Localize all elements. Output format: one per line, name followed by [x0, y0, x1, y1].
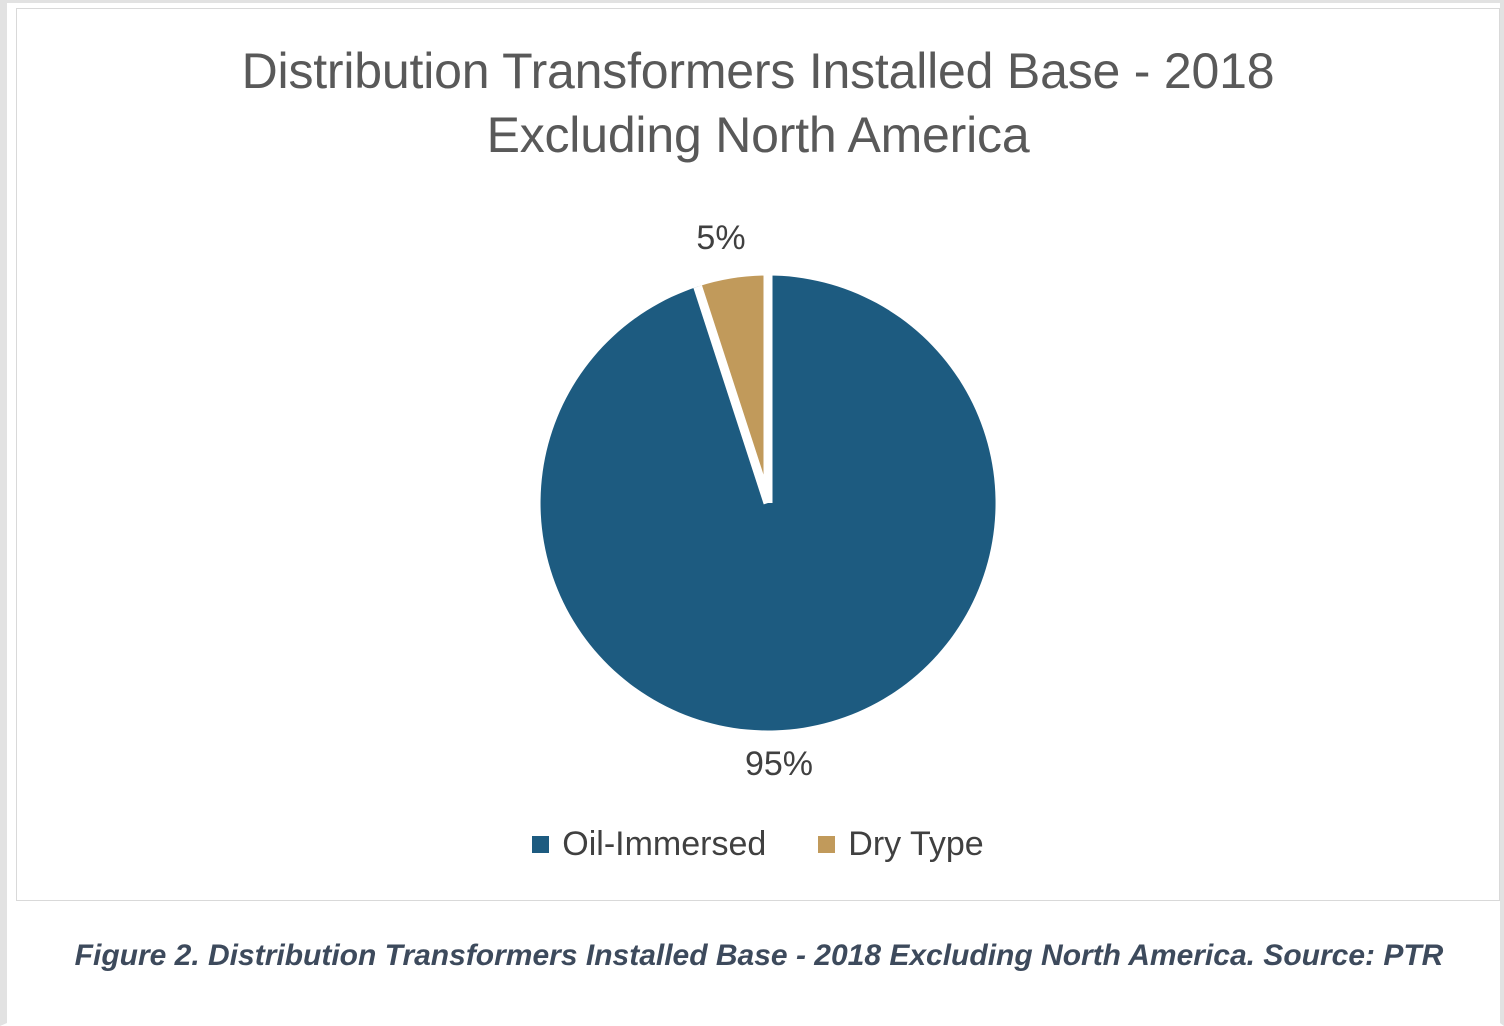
pie-chart-plot-area — [532, 267, 1004, 739]
legend-swatch-icon-dry-type — [818, 836, 835, 853]
figure-caption: Figure 2. Distribution Transformers Inst… — [7, 938, 1504, 974]
legend-item-dry-type[interactable]: Dry Type — [818, 827, 983, 861]
chart-frame: Distribution Transformers Installed Base… — [16, 8, 1500, 901]
data-label-dry-type: 5% — [621, 219, 821, 258]
legend-label-dry-type: Dry Type — [848, 827, 983, 861]
chart-title: Distribution Transformers Installed Base… — [17, 39, 1499, 167]
legend-swatch-icon-oil-immersed — [532, 836, 549, 853]
data-label-oil-immersed: 95% — [679, 745, 879, 784]
legend-label-oil-immersed: Oil-Immersed — [562, 827, 766, 861]
legend-item-oil-immersed[interactable]: Oil-Immersed — [532, 827, 766, 861]
figure-container: Distribution Transformers Installed Base… — [0, 0, 1504, 1026]
chart-legend: Oil-Immersed Dry Type — [17, 827, 1499, 861]
pie-chart-svg — [532, 267, 1004, 739]
